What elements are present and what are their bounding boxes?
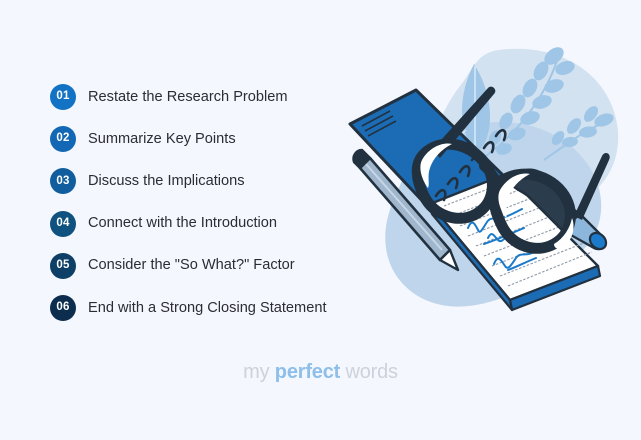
step-label-05: Consider the "So What?" Factor — [88, 258, 295, 273]
list-item: 05 Consider the "So What?" Factor — [50, 253, 410, 279]
step-label-02: Summarize Key Points — [88, 132, 236, 147]
step-number-badge-03: 03 — [50, 168, 76, 194]
step-label-03: Discuss the Implications — [88, 174, 245, 189]
brand-logo-part-my: my — [243, 361, 269, 383]
list-item: 02 Summarize Key Points — [50, 126, 410, 152]
step-number-badge-05: 05 — [50, 253, 76, 279]
step-label-06: End with a Strong Closing Statement — [88, 301, 327, 316]
step-number-badge-01: 01 — [50, 84, 76, 110]
brand-logo: my perfect words — [0, 361, 641, 384]
infographic-canvas: 01 Restate the Research Problem 02 Summa… — [0, 0, 641, 440]
step-label-04: Connect with the Introduction — [88, 216, 277, 231]
list-item: 06 End with a Strong Closing Statement — [50, 295, 410, 321]
step-number-badge-06: 06 — [50, 295, 76, 321]
steps-list: 01 Restate the Research Problem 02 Summa… — [50, 84, 410, 321]
step-number-badge-02: 02 — [50, 126, 76, 152]
brand-logo-part-words: words — [345, 361, 397, 383]
list-item: 01 Restate the Research Problem — [50, 84, 410, 110]
list-item: 03 Discuss the Implications — [50, 168, 410, 194]
step-label-01: Restate the Research Problem — [88, 90, 288, 105]
list-item: 04 Connect with the Introduction — [50, 211, 410, 237]
step-number-badge-04: 04 — [50, 211, 76, 237]
brand-logo-part-perfect: perfect — [275, 361, 340, 383]
